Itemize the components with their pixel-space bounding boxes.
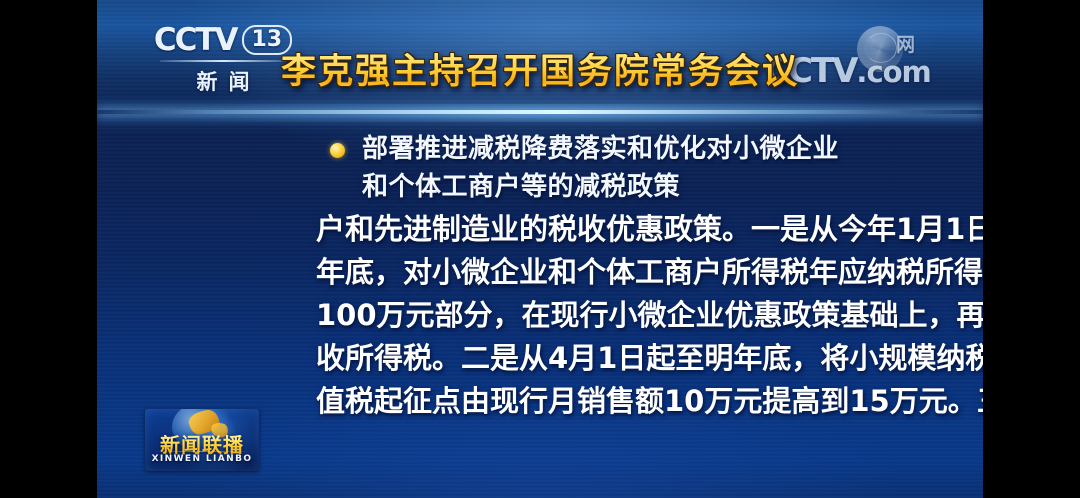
- body-copy-block: 户和先进制造业的税收优惠政策。一是从今年1月1日起至明 年底，对小微企业和个体工…: [316, 208, 983, 423]
- page-title: 李克强主持召开国务院常务会议: [97, 53, 983, 92]
- cctv-wordmark: CCTV: [154, 25, 237, 56]
- body-line-1: 户和先进制造业的税收优惠政策。一是从今年1月1日起至明: [316, 208, 983, 251]
- subtitle-line-1-text: 部署推进减税降费落实和优化对小微企业: [362, 134, 839, 164]
- subtitle-block: 部署推进减税降费落实和优化对小微企业 和个体工商户等的减税政策: [330, 130, 983, 206]
- xinwen-lianbo-program-bug: 新闻联播 XINWEN LIANBO: [145, 409, 259, 471]
- subtitle-line-2: 和个体工商户等的减税政策: [330, 168, 983, 206]
- body-line-4: 收所得税。二是从4月1日起至明年底，将小规模纳税人增: [316, 337, 983, 380]
- headline-divider: [97, 110, 983, 114]
- body-line-5: 值税起征点由现行月销售额10万元提高到15万元。三是从: [316, 380, 983, 423]
- program-bug-divider: [153, 451, 251, 452]
- subtitle-line-1: 部署推进减税降费落实和优化对小微企业: [330, 130, 983, 168]
- letterbox-bar-right: [983, 0, 1080, 498]
- program-name-cn: 新闻联播: [145, 435, 259, 455]
- body-line-2: 年底，对小微企业和个体工商户所得税年应纳税所得额不到: [316, 251, 983, 294]
- body-line-3: 100万元部分，在现行小微企业优惠政策基础上，再减半征: [316, 294, 983, 337]
- video-stage: CCTV 13 新闻 网 CCTV.com 李克强主持召开国务院常务会议 部署推…: [97, 0, 983, 498]
- gold-bullet-dot-icon: [330, 143, 345, 158]
- program-name-en: XINWEN LIANBO: [145, 454, 259, 464]
- letterbox-bar-left: [0, 0, 97, 498]
- broadcast-screenshot: CCTV 13 新闻 网 CCTV.com 李克强主持召开国务院常务会议 部署推…: [0, 0, 1080, 498]
- channel-number-badge: 13: [242, 25, 293, 55]
